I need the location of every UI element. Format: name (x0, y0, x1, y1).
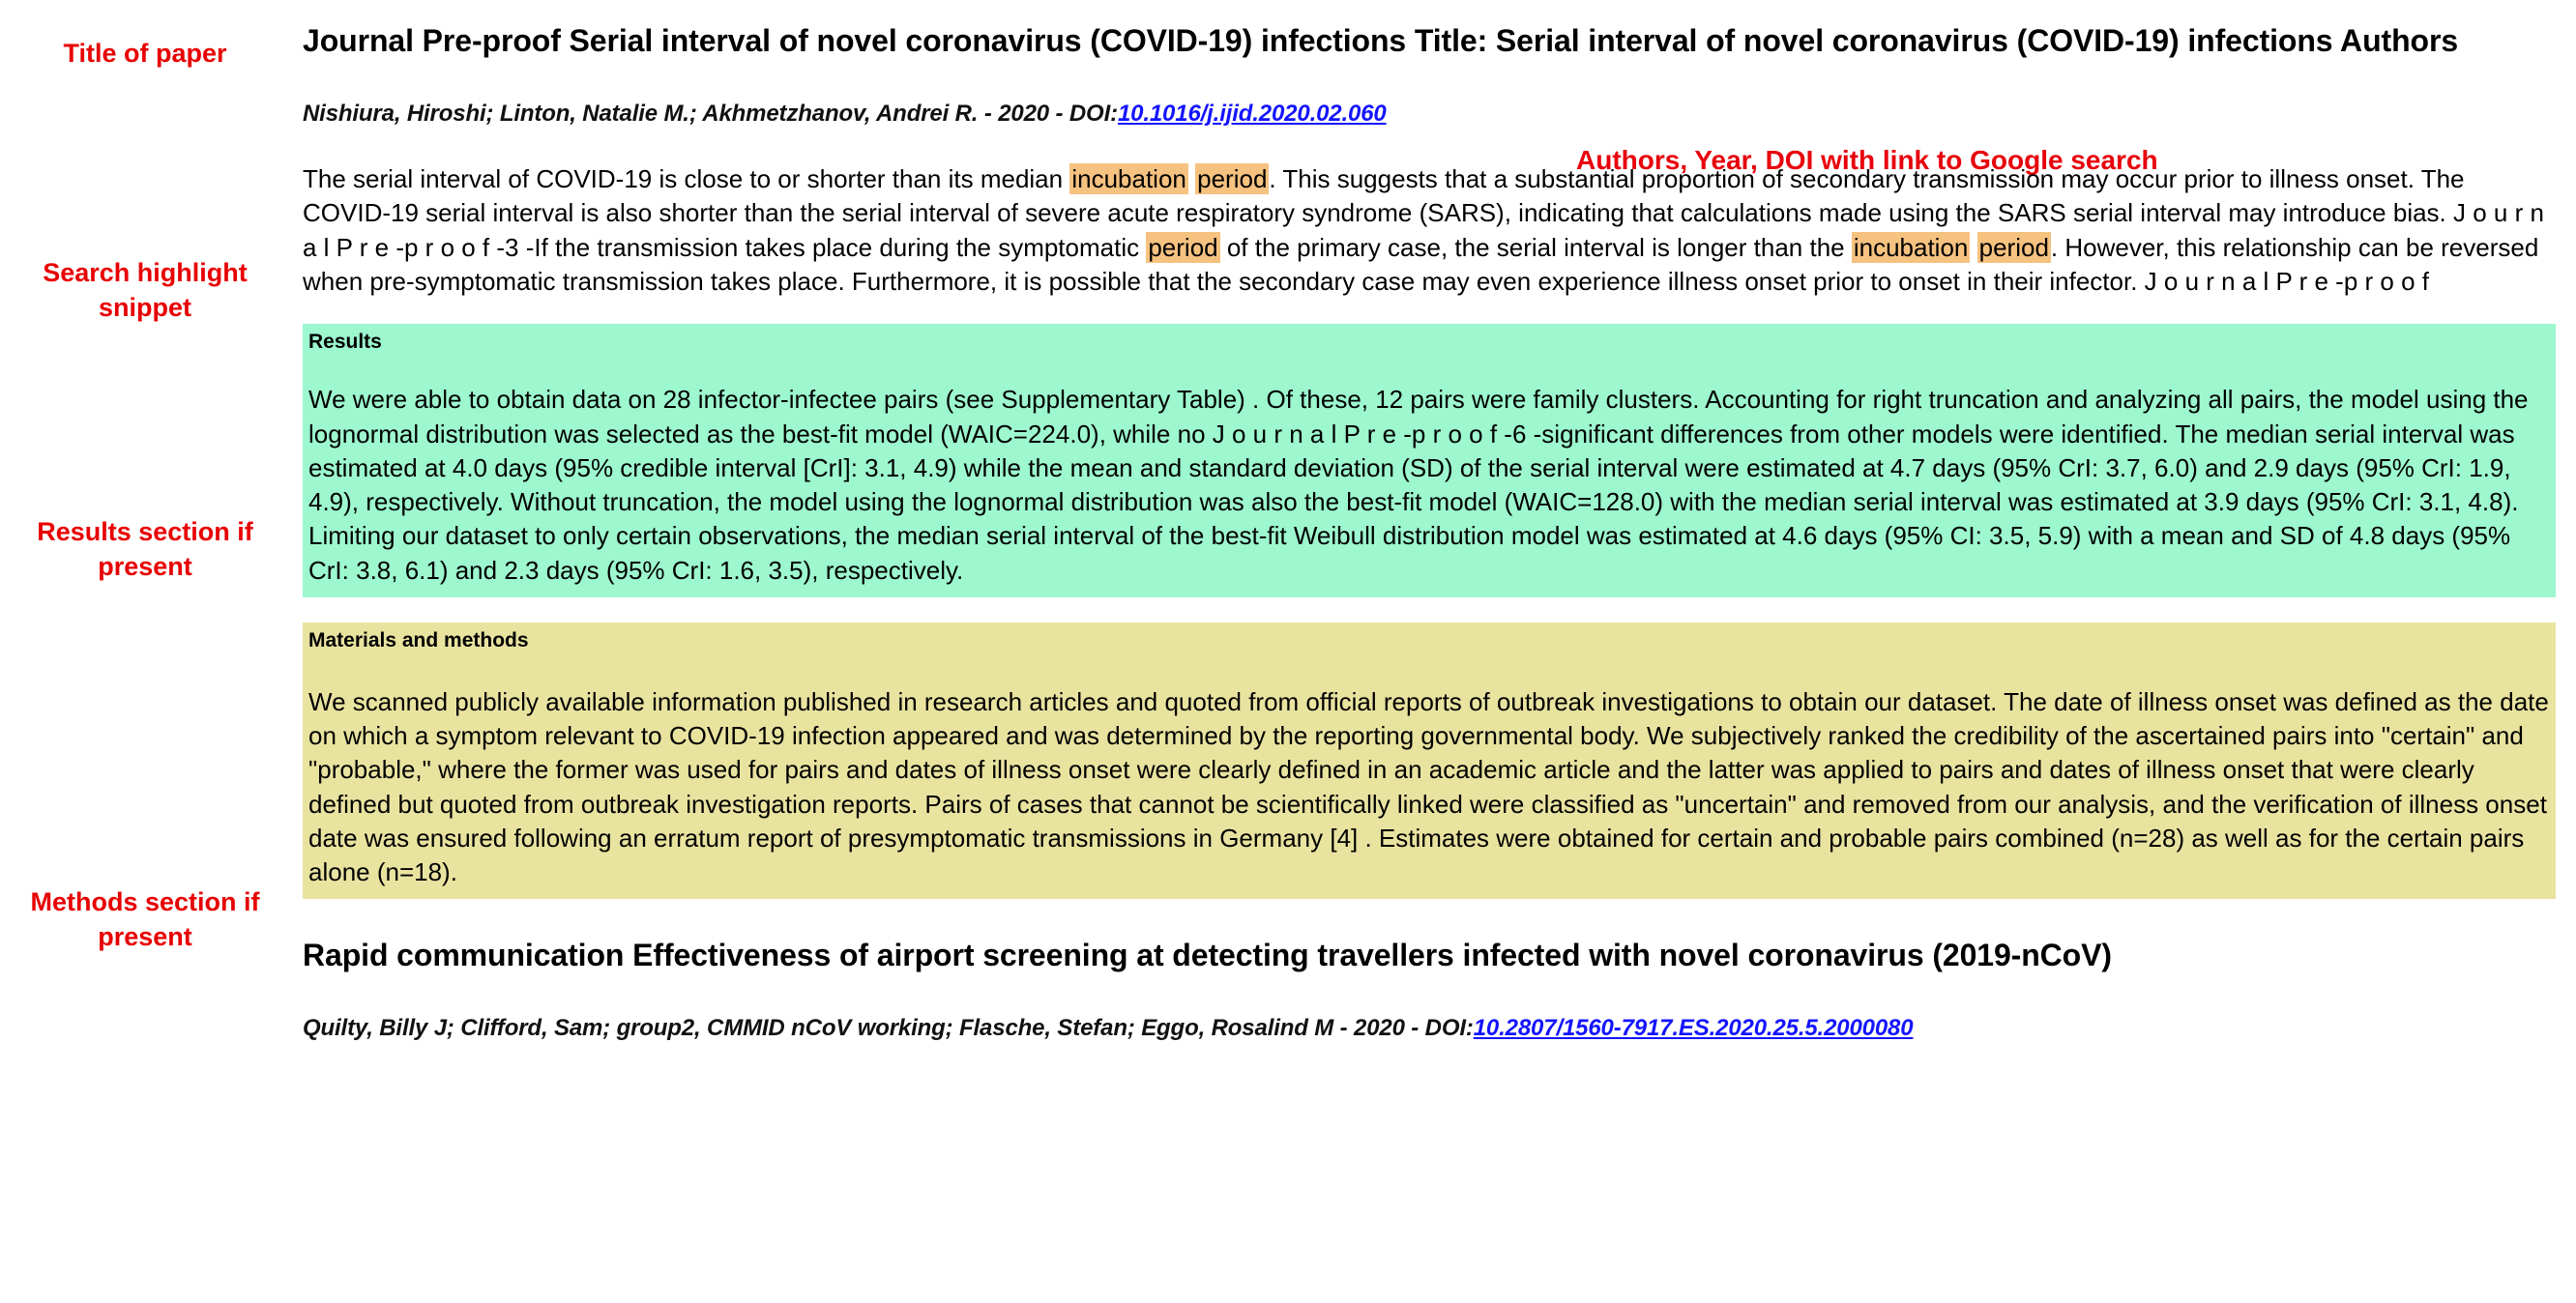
snippet-text-1: The serial interval of COVID-19 is close… (303, 164, 1069, 193)
snippet-text-sep-2 (1970, 233, 1976, 262)
methods-section-heading: Materials and methods (307, 628, 2552, 652)
results-column: Journal Pre-proof Serial interval of nov… (303, 0, 2556, 1043)
highlight-term: period (1977, 232, 2051, 263)
annotation-methods-section: Methods section if present (0, 885, 290, 954)
results-section: Results We were able to obtain data on 2… (303, 324, 2556, 597)
methods-section: Materials and methods We scanned publicl… (303, 623, 2556, 900)
authors-year-doi-text: Nishiura, Hiroshi; Linton, Natalie M.; A… (303, 101, 1118, 127)
highlight-term: period (1195, 163, 1269, 194)
methods-section-body: We scanned publicly available informatio… (307, 685, 2552, 889)
annotation-results-section: Results section if present (0, 515, 290, 584)
paper-title[interactable]: Journal Pre-proof Serial interval of nov… (303, 21, 2556, 62)
paper-authors-line: Quilty, Billy J; Clifford, Sam; group2, … (303, 1013, 2556, 1043)
paper-title[interactable]: Rapid communication Effectiveness of air… (303, 936, 2556, 976)
authors-year-doi-text: Quilty, Billy J; Clifford, Sam; group2, … (303, 1015, 1474, 1041)
highlight-term: incubation (1852, 232, 1971, 263)
search-results-page: Title of paper Search highlight snippet … (0, 0, 2576, 1303)
results-section-body: We were able to obtain data on 28 infect… (307, 383, 2552, 587)
results-section-heading: Results (307, 330, 2552, 354)
doi-link[interactable]: 10.1016/j.ijid.2020.02.060 (1118, 101, 1387, 127)
highlight-term: period (1146, 232, 1219, 263)
search-highlight-snippet: The serial interval of COVID-19 is close… (303, 162, 2556, 299)
snippet-text-3: of the primary case, the serial interval… (1220, 233, 1852, 262)
paper-authors-line: Nishiura, Hiroshi; Linton, Natalie M.; A… (303, 99, 2556, 129)
annotation-title-of-paper: Title of paper (0, 37, 290, 72)
result-entry: Journal Pre-proof Serial interval of nov… (303, 21, 2556, 899)
result-entry: Rapid communication Effectiveness of air… (303, 936, 2556, 1043)
highlight-term: incubation (1069, 163, 1188, 194)
doi-link[interactable]: 10.2807/1560-7917.ES.2020.25.5.2000080 (1474, 1015, 1914, 1041)
annotation-search-highlight-snippet: Search highlight snippet (0, 256, 290, 325)
